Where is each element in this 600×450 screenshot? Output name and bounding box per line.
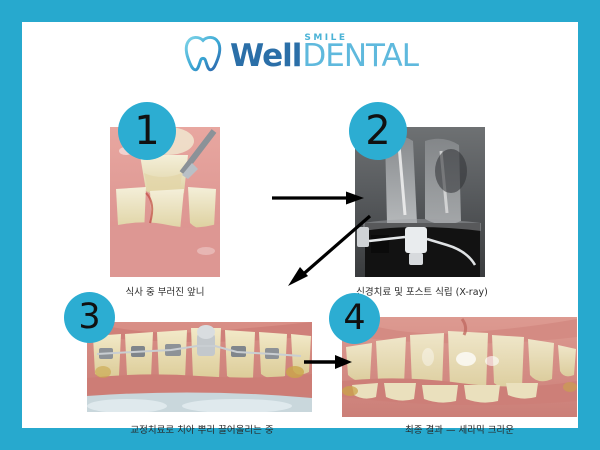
logo-word-dental: DENTAL: [302, 41, 418, 72]
step-4-badge: 4: [329, 293, 380, 344]
arrow-step3-to-step4: [304, 354, 352, 370]
clinic-logo: Well SMILE DENTAL: [22, 32, 578, 74]
step-3-caption: 교정치료로 치아 뿌리 끌어올리는 중: [97, 422, 307, 436]
tooth-icon: [182, 32, 224, 74]
logo-wordmark: Well SMILE DENTAL: [230, 34, 418, 72]
final-ceramic-crown-photo: [342, 317, 577, 417]
orthodontic-extrusion-braces-photo: [87, 322, 312, 412]
step-1-badge: 1: [118, 102, 176, 160]
step-3-photo: [87, 322, 312, 412]
infographic-frame: Well SMILE DENTAL: [22, 22, 578, 428]
step-3-badge: 3: [64, 292, 115, 343]
arrow-step1-to-step2: [272, 190, 364, 206]
step-1-caption: 식사 중 부러진 앞니: [85, 284, 245, 298]
step-2-badge: 2: [349, 102, 407, 160]
logo-word-well: Well: [230, 41, 301, 72]
arrow-step2-to-step3: [284, 214, 372, 286]
step-4-caption: 최종 결과 — 세라믹 크라운: [347, 422, 572, 436]
step-4-photo: [342, 317, 577, 417]
